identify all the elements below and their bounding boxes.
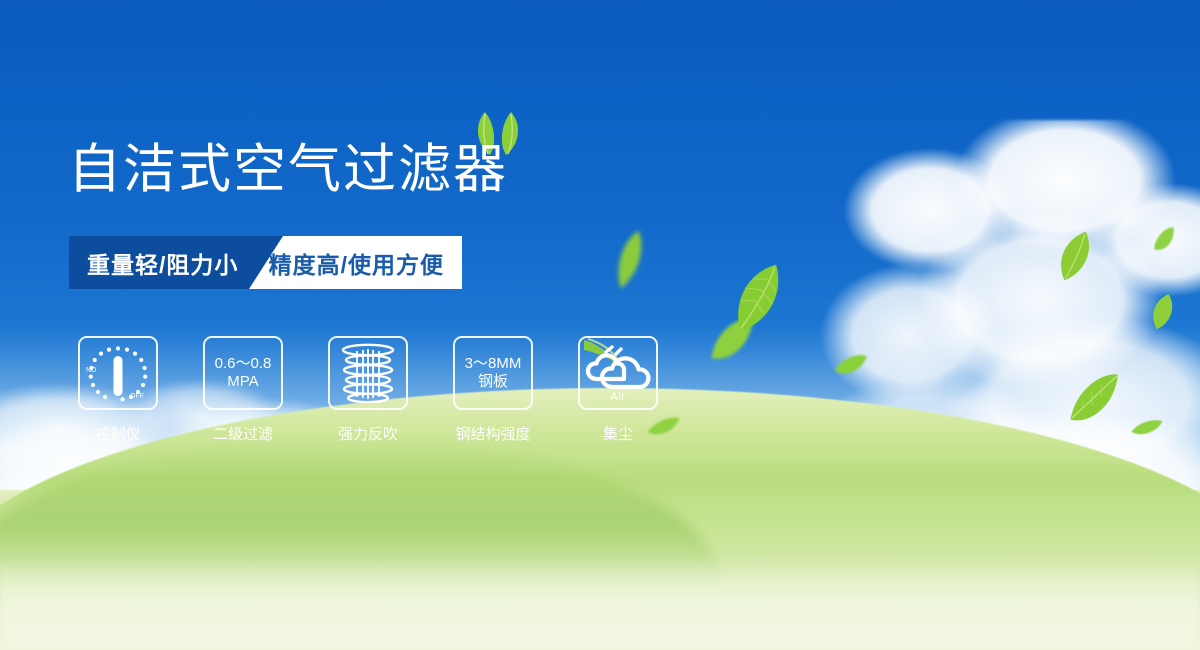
gauge-off-label: OFF	[130, 393, 144, 400]
steel-value-box: 3〜8MM钢板	[453, 336, 533, 410]
feature-text: 3〜8MM钢板	[465, 355, 522, 390]
feature-item-backblow[interactable]: 强力反吹	[328, 336, 408, 444]
hero-banner: 自洁式空气过滤器 重量轻/阻力小 精度高/使用方便	[0, 0, 1200, 650]
feature-label: 集尘	[603, 423, 633, 444]
gauge-on-label: NO	[86, 367, 97, 374]
feature-item-steel[interactable]: 3〜8MM钢板 钢结构强度	[453, 336, 533, 444]
feature-label: 钢结构强度	[455, 423, 530, 444]
leaf-icon	[1045, 223, 1104, 290]
leaf-icon	[713, 250, 798, 344]
feature-list: NO OFF 控制仪 0.6〜0.8MPA 二级过滤	[78, 336, 658, 444]
leaf-icon	[1129, 418, 1164, 437]
gauge-icon: NO OFF	[78, 336, 158, 410]
tag-right-label: 精度高/使用方便	[269, 246, 444, 280]
page-title: 自洁式空气过滤器	[68, 143, 508, 196]
subtitle-tag-bar: 重量轻/阻力小 精度高/使用方便	[69, 236, 462, 289]
leaf-icon	[700, 312, 766, 368]
tag-left-label: 重量轻/阻力小	[87, 246, 238, 280]
feature-item-control[interactable]: NO OFF 控制仪	[78, 336, 158, 444]
pressure-value-box: 0.6〜0.8MPA	[203, 336, 283, 410]
filter-stack-icon	[328, 336, 408, 410]
feature-text: 0.6〜0.8MPA	[215, 355, 272, 390]
feature-label: 二级过滤	[213, 423, 273, 444]
leaf-icon	[1059, 370, 1131, 429]
tag-right-panel: 精度高/使用方便	[249, 236, 462, 289]
air-label: Air	[580, 391, 656, 403]
leaf-icon	[1147, 224, 1183, 257]
feature-item-pressure[interactable]: 0.6〜0.8MPA 二级过滤	[203, 336, 283, 444]
leaf-icon	[832, 353, 870, 378]
leaf-icon	[605, 225, 653, 295]
air-cloud-icon: Air	[578, 336, 658, 410]
ground-haze	[0, 555, 1200, 650]
feature-label: 强力反吹	[338, 423, 398, 444]
leaf-icon	[1142, 288, 1182, 335]
feature-item-dust[interactable]: Air 集尘	[578, 336, 658, 444]
feature-label: 控制仪	[95, 423, 140, 444]
